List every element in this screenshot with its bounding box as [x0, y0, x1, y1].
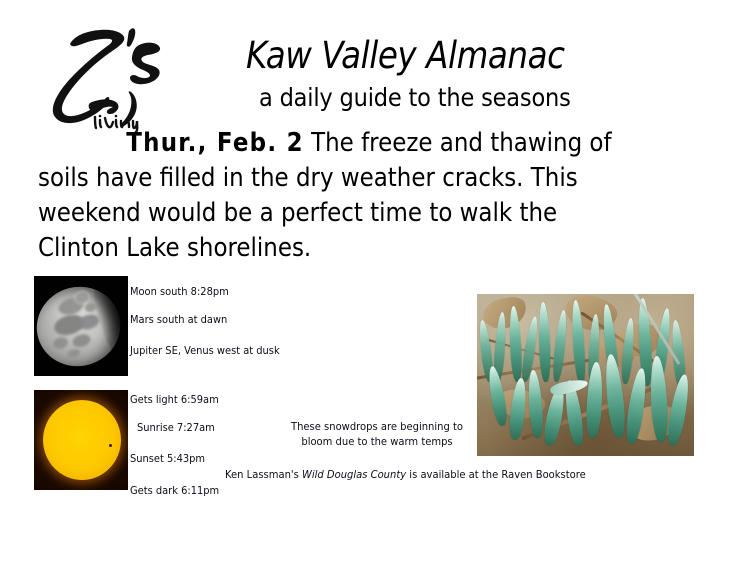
moon-disc — [34, 277, 128, 376]
snowdrops-photo — [477, 294, 694, 456]
moon-caption-line-1: Moon south 8:28pm — [130, 286, 229, 299]
moon-mare — [66, 348, 80, 359]
credit-suffix: is available at the Raven Bookstore — [406, 469, 586, 481]
sun-caption-line-2: Sunrise 7:27am — [137, 422, 215, 435]
book-title: Wild Douglas County — [302, 469, 406, 481]
sunspot — [109, 444, 112, 447]
moon-mare — [71, 332, 92, 349]
moon-caption-line-3: Jupiter SE, Venus west at dusk — [130, 345, 280, 358]
sun-caption-line-4: Gets dark 6:11pm — [130, 485, 219, 498]
entry-date: Thur., Feb. 2 — [126, 128, 304, 158]
snowdrops-caption: These snowdrops are beginning to bloom d… — [287, 420, 468, 450]
moon-photo — [34, 276, 128, 376]
sun-photo — [34, 390, 128, 490]
entry-text: The freeze and thawing of soils have fil… — [38, 128, 612, 263]
moon-mare — [52, 336, 69, 351]
sun-disc — [43, 400, 121, 480]
sun-caption-line-3: Sunset 5:43pm — [130, 453, 205, 466]
sun-caption-line-1: Gets light 6:59am — [130, 394, 219, 407]
moon-caption-line-2: Mars south at dawn — [130, 314, 227, 327]
book-credit: Ken Lassman's Wild Douglas County is ava… — [225, 468, 586, 482]
zs-living-logo — [34, 14, 174, 134]
almanac-entry: Thur., Feb. 2 The freeze and thawing of … — [38, 126, 637, 266]
almanac-page: Kaw Valley Almanac a daily guide to the … — [0, 0, 730, 561]
page-subtitle: a daily guide to the seasons — [259, 84, 646, 112]
page-title: Kaw Valley Almanac — [246, 36, 624, 76]
credit-prefix: Ken Lassman's — [225, 469, 302, 481]
moon-mare — [84, 301, 98, 313]
